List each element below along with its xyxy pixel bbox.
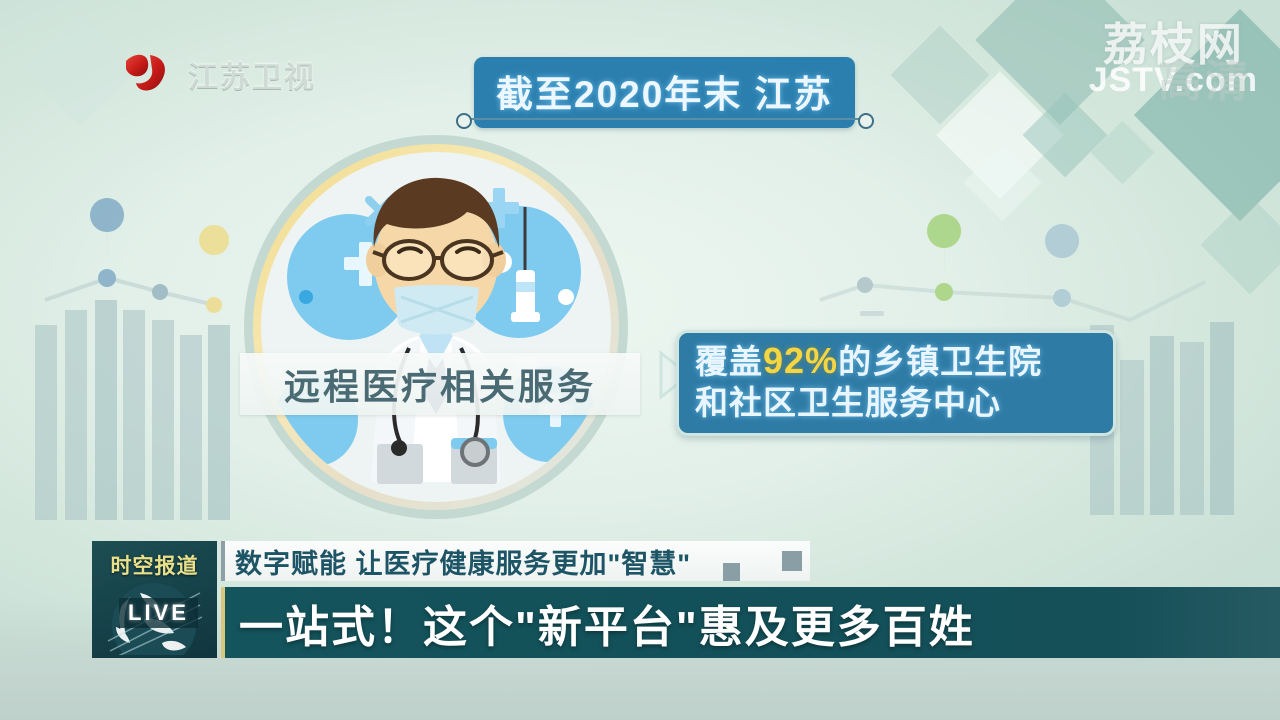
watermark-quality: 高清 [1158, 60, 1252, 104]
telemedicine-illustration: 远程医疗相关服务 [234, 135, 694, 525]
subtitle-text: 数字赋能 让医疗健康服务更加"智慧" [225, 542, 691, 581]
callout-prefix: 覆盖 [695, 343, 763, 380]
center-label-text: 远程医疗相关服务 [284, 358, 596, 410]
program-badge: 时空报道 LIVE [92, 541, 217, 658]
center-label-band: 远程医疗相关服务 [240, 353, 640, 415]
decorative-square-large [782, 551, 802, 571]
callout-line-2: 和社区卫生服务中心 [695, 383, 1099, 423]
jiangsu-tv-swirl-icon [120, 45, 178, 103]
channel-logo: 江苏卫视 [120, 45, 316, 103]
live-badge: LIVE [119, 598, 198, 628]
header-connector-dot-left [456, 113, 472, 129]
broadcast-frame: 江苏卫视 高清 荔枝网 JSTV.com 截至2020年末 江苏 [0, 0, 1280, 720]
site-watermark: 高清 荔枝网 JSTV.com [1089, 22, 1258, 97]
callout-highlight-value: 92% [763, 340, 838, 381]
headline-bar: 一站式！这个"新平台"惠及更多百姓 [225, 587, 1280, 658]
headline-shade [1114, 587, 1280, 658]
headline-text: 一站式！这个"新平台"惠及更多百姓 [225, 591, 975, 655]
callout-line-1: 覆盖92%的乡镇卫生院 [695, 339, 1099, 383]
circle-inner-area [261, 152, 611, 502]
header-connector-dot-right [858, 113, 874, 129]
doctor-avatar-icon [261, 152, 611, 502]
statistic-callout: 覆盖92%的乡镇卫生院 和社区卫生服务中心 [676, 330, 1116, 436]
decorative-square-small [723, 563, 740, 581]
header-connector-line [462, 118, 870, 120]
callout-suffix: 的乡镇卫生院 [838, 343, 1042, 380]
lower-third: 时空报道 LIVE 数字赋能 让医疗健康服务更加 [92, 541, 1202, 658]
header-banner: 截至2020年末 江苏 [474, 57, 855, 128]
channel-name: 江苏卫视 [188, 52, 316, 96]
program-label: 时空报道 [92, 550, 217, 580]
header-text: 截至2020年末 江苏 [496, 74, 833, 115]
